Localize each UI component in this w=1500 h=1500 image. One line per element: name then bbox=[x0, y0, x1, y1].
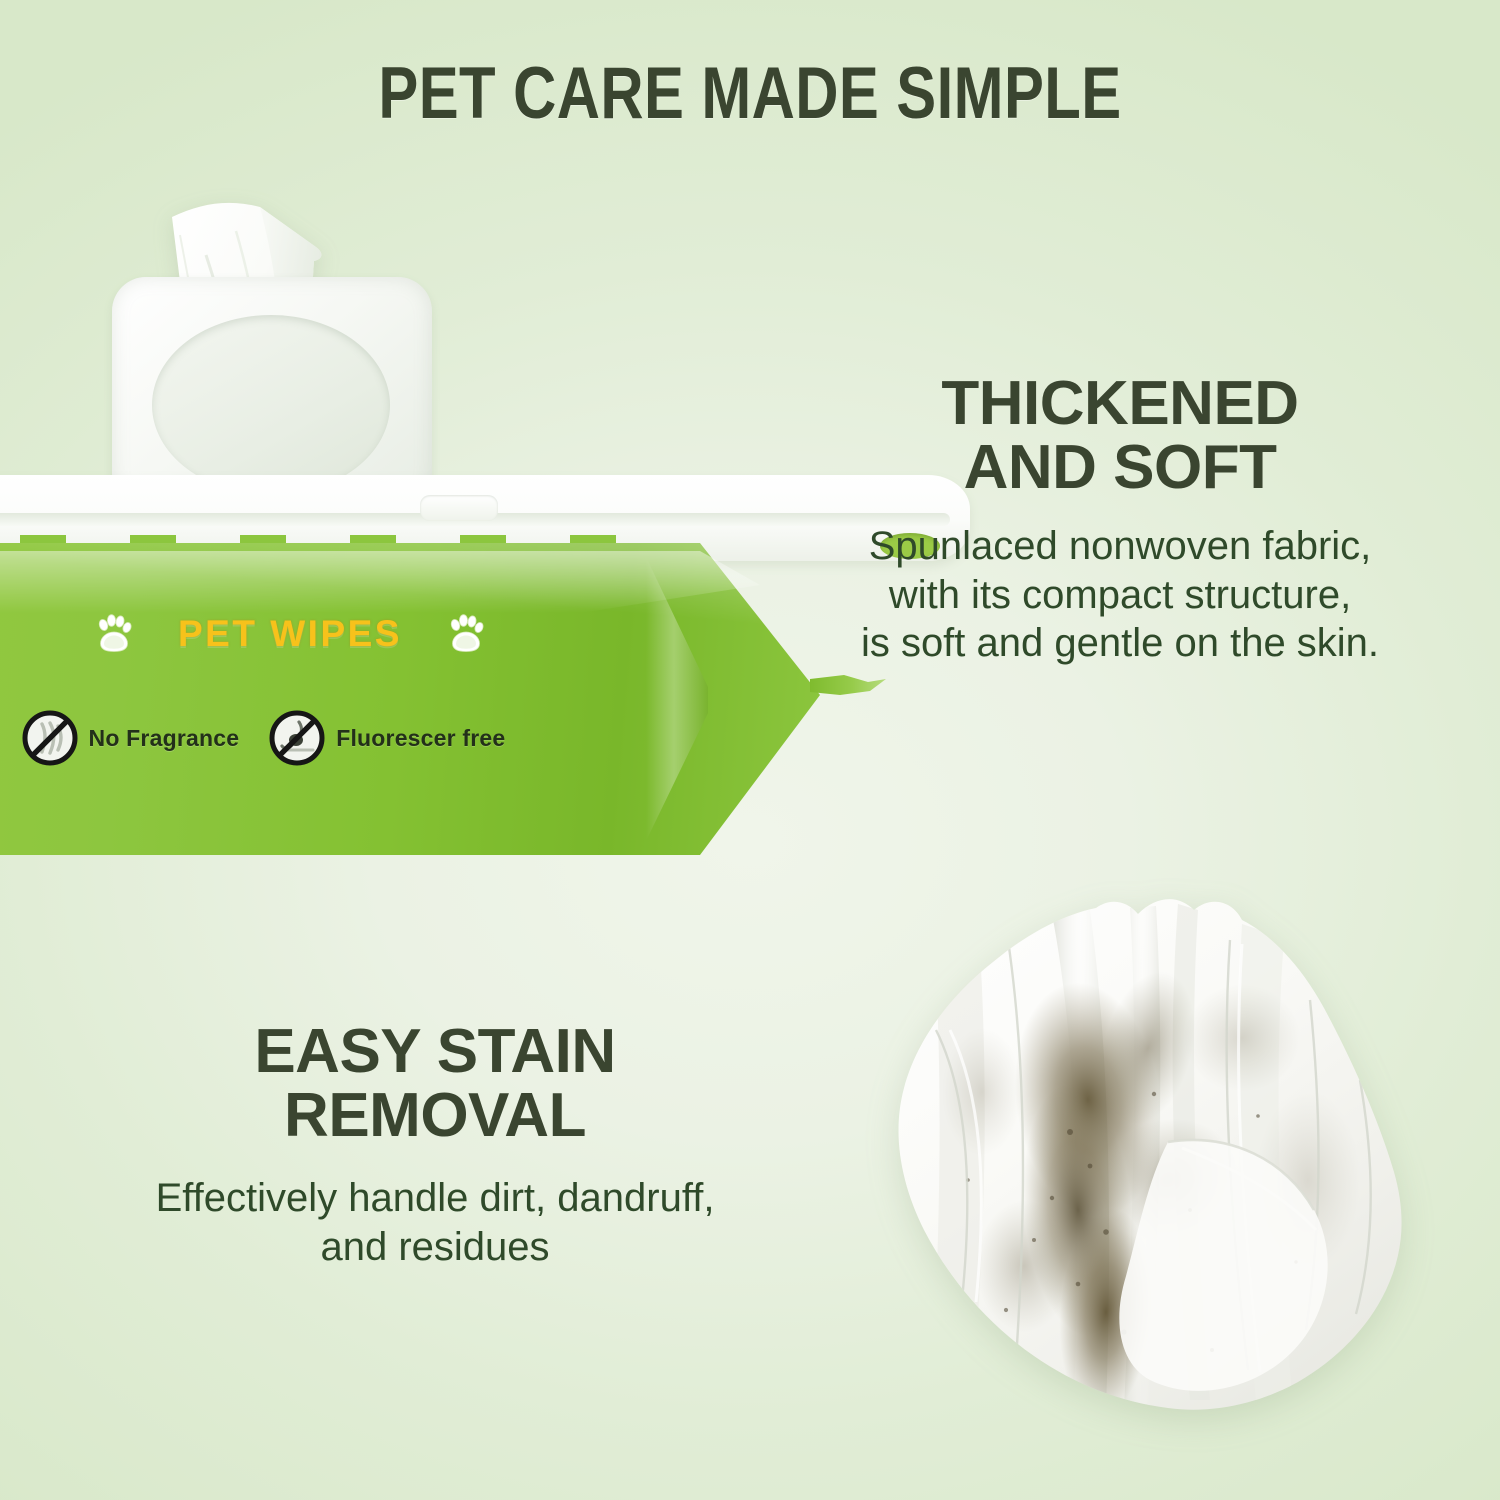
package-brand-name: PET WIPES bbox=[178, 613, 402, 655]
package-claims-row: No Alcohol No Fragrance Fluore bbox=[0, 710, 662, 766]
claim-fluorescer-free: Fluorescer free bbox=[269, 710, 505, 766]
no-fluorescer-icon bbox=[269, 710, 325, 766]
lid-latch-tab bbox=[420, 495, 498, 521]
paw-print-icon bbox=[96, 614, 132, 654]
soiled-wipe-photo bbox=[838, 880, 1438, 1450]
claim-label: Fluorescer free bbox=[336, 725, 505, 752]
feature-easy-stain-removal: EASY STAIN REMOVAL Effectively handle di… bbox=[40, 1020, 830, 1271]
feature-thickened-and-soft: THICKENED AND SOFT Spunlaced nonwoven fa… bbox=[770, 372, 1470, 668]
pet-wipes-package-photo: PET WIPES No Alcohol bbox=[0, 195, 880, 855]
feature-body: Effectively handle dirt, dandruff, and r… bbox=[40, 1174, 830, 1272]
page-title: PET CARE MADE SIMPLE bbox=[135, 52, 1365, 135]
claim-no-fragrance: No Fragrance bbox=[22, 710, 240, 766]
paw-print-icon bbox=[448, 614, 484, 654]
package-brand-row: PET WIPES bbox=[0, 613, 700, 655]
claim-label: No Fragrance bbox=[89, 725, 240, 752]
infographic-stage: PET CARE MADE SIMPLE bbox=[0, 0, 1500, 1500]
package-pouch-body bbox=[0, 543, 820, 855]
lid-dispense-opening bbox=[152, 315, 390, 495]
pouch-seam-tail bbox=[810, 675, 886, 697]
no-fragrance-icon bbox=[22, 710, 78, 766]
feature-heading: EASY STAIN REMOVAL bbox=[40, 1020, 830, 1148]
feature-heading: THICKENED AND SOFT bbox=[770, 372, 1470, 500]
feature-body: Spunlaced nonwoven fabric, with its comp… bbox=[770, 522, 1470, 668]
